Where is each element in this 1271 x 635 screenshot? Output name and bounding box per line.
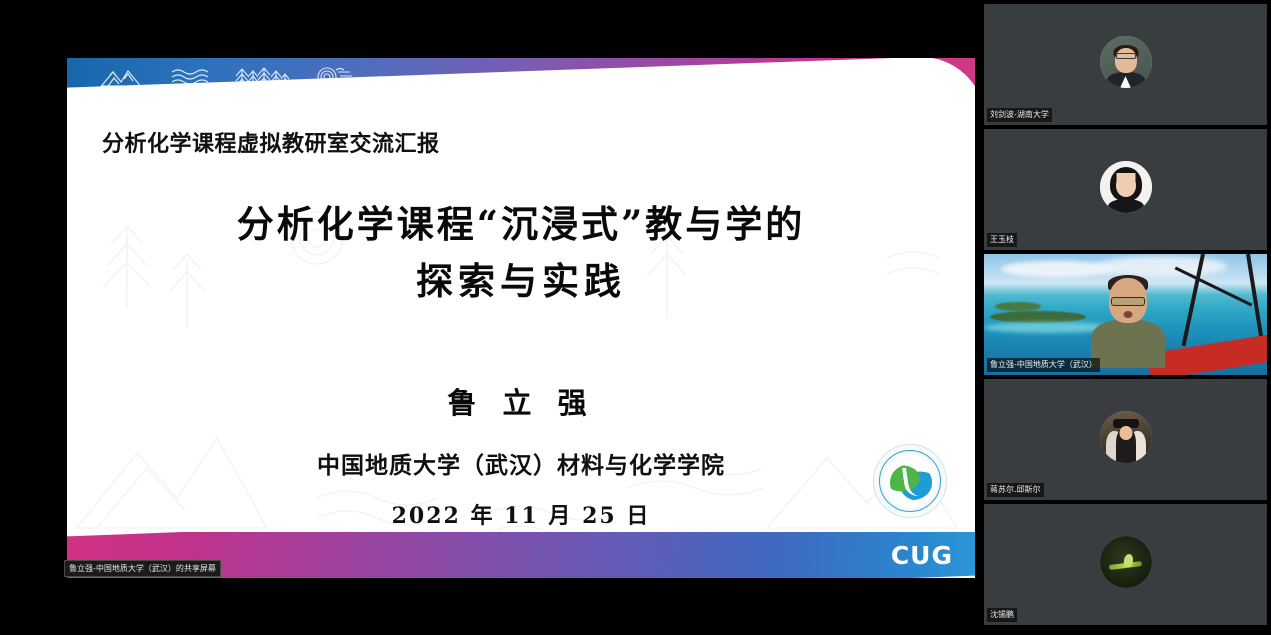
avatar bbox=[1100, 161, 1152, 213]
participant-tile-4[interactable]: 蒋苏尔.邱斯尔 bbox=[984, 379, 1267, 500]
shared-screen-region[interactable]: 中国地质大学 CHINA UNIVERSITY OF GEOSCIENCES 武… bbox=[0, 0, 980, 635]
presentation-slide[interactable]: 中国地质大学 CHINA UNIVERSITY OF GEOSCIENCES 武… bbox=[67, 58, 975, 578]
participant-name-label: 王玉枝 bbox=[987, 233, 1017, 247]
faculty-logo-icon bbox=[873, 444, 947, 518]
slide-affiliation: 中国地质大学（武汉）材料与化学学院 bbox=[67, 446, 975, 480]
slide-title-line-1: 分析化学课程“沉浸式”教与学的 bbox=[67, 196, 975, 253]
participant-tile-2[interactable]: 王玉枝 bbox=[984, 129, 1267, 250]
slide-subtitle: 分析化学课程虚拟教研室交流汇报 bbox=[102, 126, 440, 158]
participant-name-label: 刘剑波-湖南大学 bbox=[987, 108, 1052, 122]
participant-name-label: 鲁立强-中国地质大学（武汉） bbox=[987, 358, 1100, 372]
participant-video-feed bbox=[984, 254, 1267, 375]
slide-date: 2022 年 11 月 25 日 bbox=[67, 498, 975, 530]
avatar bbox=[1100, 411, 1152, 463]
slide-header-band: 中国地质大学 CHINA UNIVERSITY OF GEOSCIENCES 武… bbox=[67, 58, 975, 120]
participant-tile-5[interactable]: 沈锡鹏 bbox=[984, 504, 1267, 625]
share-owner-label: 鲁立强-中国地质大学（武汉）的共享屏幕 bbox=[64, 560, 221, 577]
participant-name-label: 沈锡鹏 bbox=[987, 608, 1017, 622]
avatar bbox=[1100, 36, 1152, 88]
participant-name-label: 蒋苏尔.邱斯尔 bbox=[987, 483, 1044, 497]
slide-presenter-name: 鲁 立 强 bbox=[67, 380, 975, 422]
participant-tile-3-active-speaker[interactable]: 鲁立强-中国地质大学（武汉） bbox=[984, 254, 1267, 375]
screen-share-meeting-window: 中国地质大学 CHINA UNIVERSITY OF GEOSCIENCES 武… bbox=[0, 0, 1271, 635]
participant-filmstrip[interactable]: 刘剑波-湖南大学 王玉枝 鲁立强-中国地质大学（武汉） 蒋苏尔.邱斯尔 bbox=[980, 0, 1271, 635]
slide-title-line-2: 探索与实践 bbox=[67, 253, 975, 310]
avatar bbox=[1100, 536, 1152, 588]
participant-tile-1[interactable]: 刘剑波-湖南大学 bbox=[984, 4, 1267, 125]
slide-main-title: 分析化学课程“沉浸式”教与学的 探索与实践 bbox=[67, 196, 975, 311]
slide-footer-brand: CUG bbox=[891, 541, 953, 570]
